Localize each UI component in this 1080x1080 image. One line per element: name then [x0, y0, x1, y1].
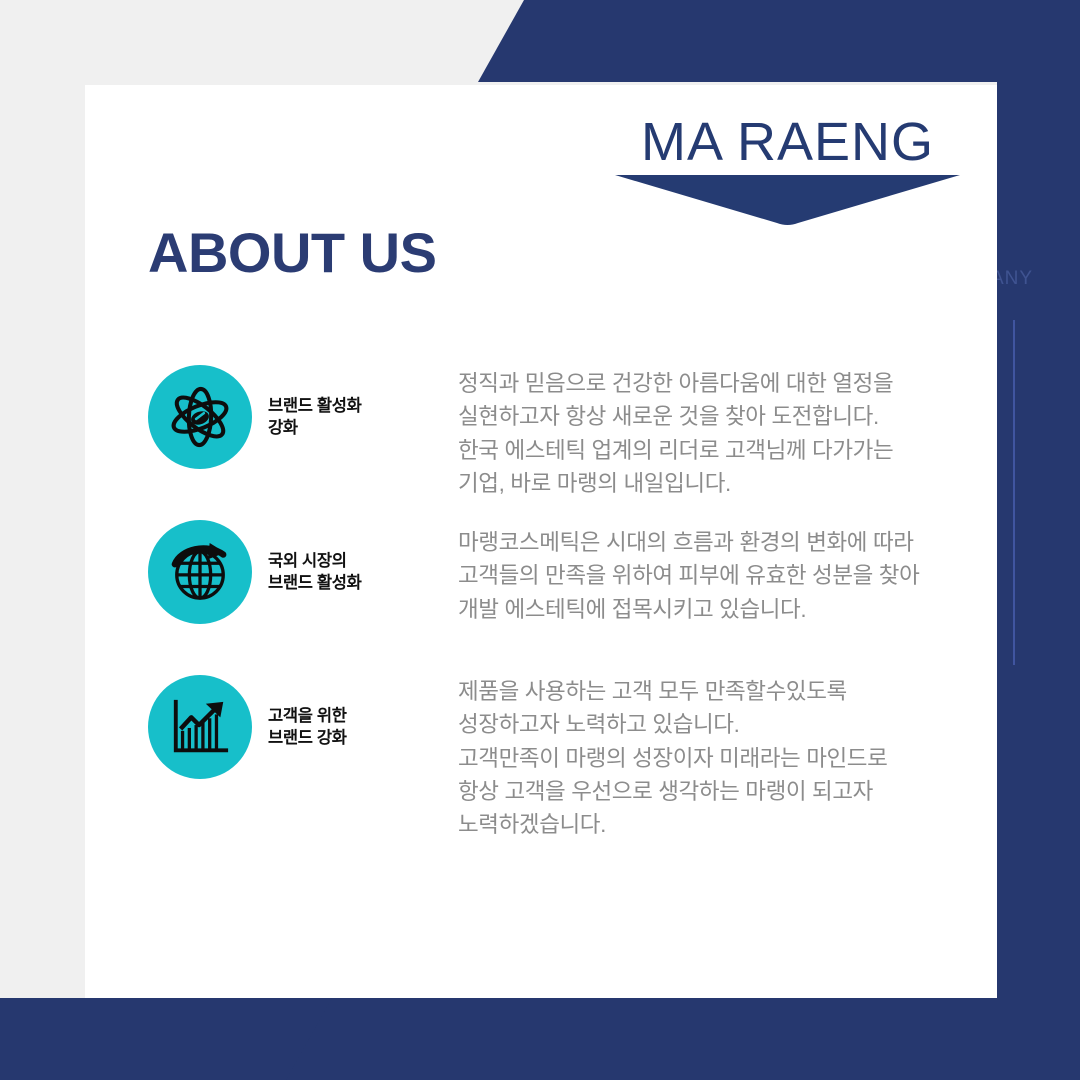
feature-item-global-market: 국외 시장의 브랜드 활성화 [148, 520, 458, 624]
content-card: MA RAENG ABOUT US [85, 85, 997, 998]
right-navy-band [997, 0, 1080, 1080]
top-navy-band [0, 0, 1080, 82]
brand-logo: MA RAENG [615, 115, 960, 225]
growth-chart-icon [148, 675, 252, 779]
logo-wordmark: MA RAENG [615, 115, 960, 169]
chevron-down-icon [615, 173, 960, 225]
feature-paragraph: 정직과 믿음으로 건강한 아름다움에 대한 열정을 실현하고자 항상 새로운 것… [458, 365, 893, 500]
feature-item-brand-activation: 브랜드 활성화 강화 [148, 365, 458, 469]
atom-icon [148, 365, 252, 469]
feature-label: 브랜드 활성화 강화 [268, 395, 362, 440]
feature-label: 국외 시장의 브랜드 활성화 [268, 550, 362, 595]
feature-row: 브랜드 활성화 강화 정직과 믿음으로 건강한 아름다움에 대한 열정을 실현하… [148, 365, 893, 500]
vertical-rule [1013, 320, 1015, 665]
feature-item-customer-brand: 고객을 위한 브랜드 강화 [148, 675, 458, 779]
feature-paragraph: 마랭코스메틱은 시대의 흐름과 환경의 변화에 따라 고객들의 만족을 위하여 … [458, 520, 919, 626]
about-us-slide: ANY MA RAENG ABOUT US [0, 0, 1080, 1080]
globe-arrow-icon [148, 520, 252, 624]
page-title: ABOUT US [148, 225, 436, 281]
feature-paragraph: 제품을 사용하는 고객 모두 만족할수있도록 성장하고자 노력하고 있습니다. … [458, 675, 887, 841]
feature-label: 고객을 위한 브랜드 강화 [268, 705, 347, 750]
ghost-wordmark: ANY [991, 268, 1033, 290]
feature-row: 고객을 위한 브랜드 강화 제품을 사용하는 고객 모두 만족할수있도록 성장하… [148, 675, 887, 841]
feature-row: 국외 시장의 브랜드 활성화 마랭코스메틱은 시대의 흐름과 환경의 변화에 따… [148, 520, 919, 626]
